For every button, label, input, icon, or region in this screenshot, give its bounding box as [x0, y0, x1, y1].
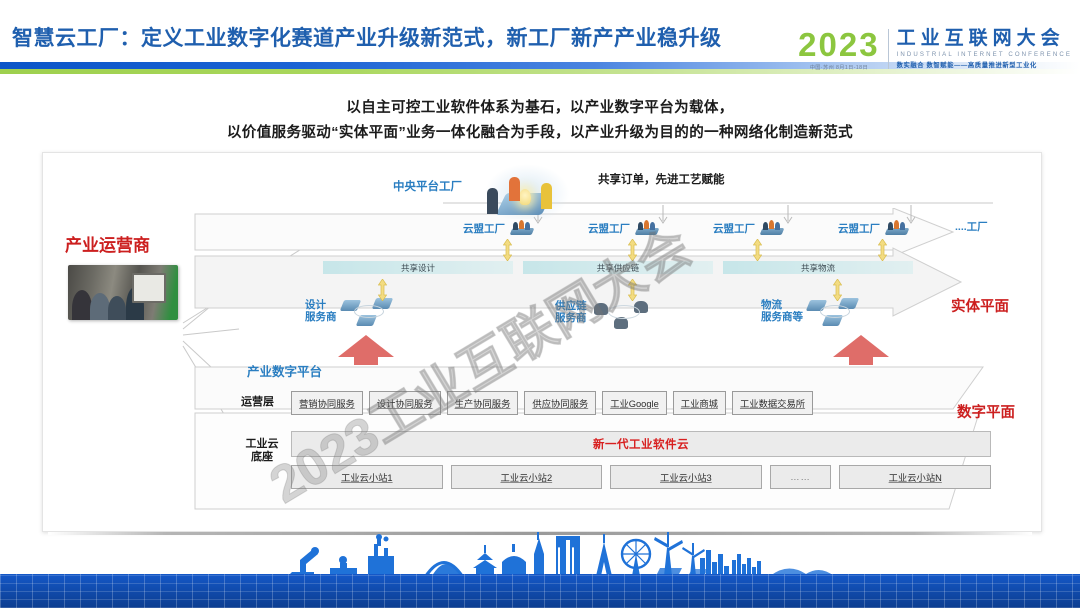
- headline-block: 以自主可控工业软件体系为基石，以产业数字平台为载体， 以价值服务驱动“实体平面”…: [0, 96, 1080, 146]
- share-band-supply: 共享供应链: [523, 261, 713, 274]
- cloud-factory-3-label: 云盟工厂: [713, 221, 755, 236]
- cloud-factory-4: 云盟工厂: [838, 219, 910, 236]
- industry-operator-label: 产业运营商: [65, 231, 150, 256]
- software-cloud-bar: 新一代工业软件云: [291, 431, 991, 457]
- factory-icon: [884, 219, 910, 236]
- cloud-factory-more: ....工厂: [955, 219, 988, 234]
- logo-name-en: INDUSTRIAL INTERNET CONFERENCE: [897, 51, 1072, 58]
- station-1[interactable]: 工业云小站1: [291, 465, 443, 489]
- logo-slogan: 数实融合 数智赋能——高质量推进新型工业化: [897, 60, 1072, 69]
- logo-text-block: 工业互联网大会 INDUSTRIAL INTERNET CONFERENCE 数…: [897, 29, 1072, 69]
- provider-design-label: 设计服务商: [305, 299, 337, 323]
- chip-design-collab[interactable]: 设计协同服务: [369, 391, 441, 415]
- share-band-supply-label: 共享供应链: [597, 262, 640, 274]
- conference-logo: 2023 中国·苏州 8月1日-18日 工业互联网大会 INDUSTRIAL I…: [798, 26, 1072, 72]
- logo-year: 2023: [798, 28, 879, 61]
- entity-plane-label: 实体平面: [951, 295, 1009, 316]
- chip-industrial-mall[interactable]: 工业商城: [673, 391, 726, 415]
- cloud-factory-more-label: ....工厂: [955, 219, 988, 234]
- bidirectional-arrow-icon: [878, 239, 887, 261]
- footer-grid-band: [0, 574, 1080, 608]
- cloud-factory-4-label: 云盟工厂: [838, 221, 880, 236]
- logo-divider: [888, 29, 889, 69]
- operation-layer-label: 运营层: [241, 396, 274, 409]
- bidirectional-arrow-icon: [628, 239, 637, 261]
- provider-supply-label: 供应链服务商: [555, 300, 587, 324]
- chip-supply-collab[interactable]: 供应协同服务: [524, 391, 596, 415]
- industry-operator-photo: [68, 265, 178, 320]
- chip-industrial-google[interactable]: 工业Google: [602, 391, 667, 415]
- diagram-card: 实体平面 中央平台工厂 共享订单，先进工艺赋能 云盟工厂 云盟工厂: [42, 152, 1042, 532]
- upward-arrow-right: [833, 335, 889, 365]
- share-band-design: 共享设计: [323, 261, 513, 274]
- people-group-icon: [592, 293, 658, 331]
- bidirectional-arrow-icon: [503, 239, 512, 261]
- upward-arrow-left: [338, 335, 394, 365]
- page-title: 智慧云工厂：定义工业数字化赛道产业升级新范式，新工厂新产产业稳升级: [12, 22, 722, 52]
- factory-row: 中央平台工厂 共享订单，先进工艺赋能 云盟工厂 云盟工厂 云盟工厂 云盟工厂 .…: [193, 181, 1023, 251]
- bidirectional-arrow-icon: [753, 239, 762, 261]
- chip-industrial-data-exchange[interactable]: 工业数据交易所: [732, 391, 813, 415]
- digital-plane-label: 数字平面: [957, 401, 1015, 422]
- chip-marketing-collab[interactable]: 营销协同服务: [291, 391, 363, 415]
- industry-digital-platform-title: 产业数字平台: [247, 361, 322, 380]
- cloud-factory-1: 云盟工厂: [463, 219, 535, 236]
- central-platform-factory-icon: [483, 163, 571, 219]
- station-ellipsis: ……: [770, 465, 832, 489]
- logo-year-block: 2023 中国·苏州 8月1日-18日: [798, 28, 887, 71]
- cloud-station-row: 工业云小站1 工业云小站2 工业云小站3 …… 工业云小站N: [291, 465, 991, 489]
- logo-name-cn: 工业互联网大会: [897, 29, 1072, 49]
- cloud-factory-2: 云盟工厂: [588, 219, 660, 236]
- provider-logistics: 物流服务商等: [761, 293, 868, 329]
- share-order-note: 共享订单，先进工艺赋能: [598, 171, 725, 187]
- cloud-base-block: 新一代工业软件云 工业云小站1 工业云小站2 工业云小站3 …… 工业云小站N: [291, 431, 991, 496]
- station-3[interactable]: 工业云小站3: [610, 465, 762, 489]
- factory-icon: [759, 219, 785, 236]
- software-cloud-label: 新一代工业软件云: [593, 436, 689, 452]
- operation-layer-chips: 营销协同服务 设计协同服务 生产协同服务 供应协同服务 工业Google 工业商…: [291, 391, 813, 415]
- cloud-factory-3: 云盟工厂: [713, 219, 785, 236]
- headline-line-2: 以价值服务驱动“实体平面”业务一体化融合为手段，以产业升级为目的的一种网络化制造…: [0, 121, 1080, 146]
- bidirectional-arrow-icon: [378, 279, 387, 301]
- bidirectional-arrow-icon: [628, 279, 637, 301]
- share-band-logistics-label: 共享物流: [801, 262, 835, 274]
- cloud-base-label: 工业云底座: [241, 438, 283, 464]
- slide-footer: [0, 532, 1080, 608]
- headline-line-1: 以自主可控工业软件体系为基石，以产业数字平台为载体，: [0, 96, 1080, 121]
- provider-logistics-label: 物流服务商等: [761, 299, 803, 323]
- cloud-factory-2-label: 云盟工厂: [588, 221, 630, 236]
- cloud-factory-1-label: 云盟工厂: [463, 221, 505, 236]
- provider-design: 设计服务商: [305, 293, 402, 329]
- share-band-design-label: 共享设计: [401, 262, 435, 274]
- factory-icon: [634, 219, 660, 236]
- factory-icon: [509, 219, 535, 236]
- chip-production-collab[interactable]: 生产协同服务: [447, 391, 519, 415]
- station-n[interactable]: 工业云小站N: [839, 465, 991, 489]
- station-2[interactable]: 工业云小站2: [451, 465, 603, 489]
- share-band-logistics: 共享物流: [723, 261, 913, 274]
- network-nodes-icon: [342, 293, 402, 329]
- slide-header: 智慧云工厂：定义工业数字化赛道产业升级新范式，新工厂新产产业稳升级 2023 中…: [0, 0, 1080, 80]
- central-platform-factory-label: 中央平台工厂: [393, 178, 462, 194]
- bidirectional-arrow-icon: [833, 279, 842, 301]
- logo-date-location: 中国·苏州 8月1日-18日: [810, 64, 868, 71]
- provider-supply: 供应链服务商: [555, 293, 658, 331]
